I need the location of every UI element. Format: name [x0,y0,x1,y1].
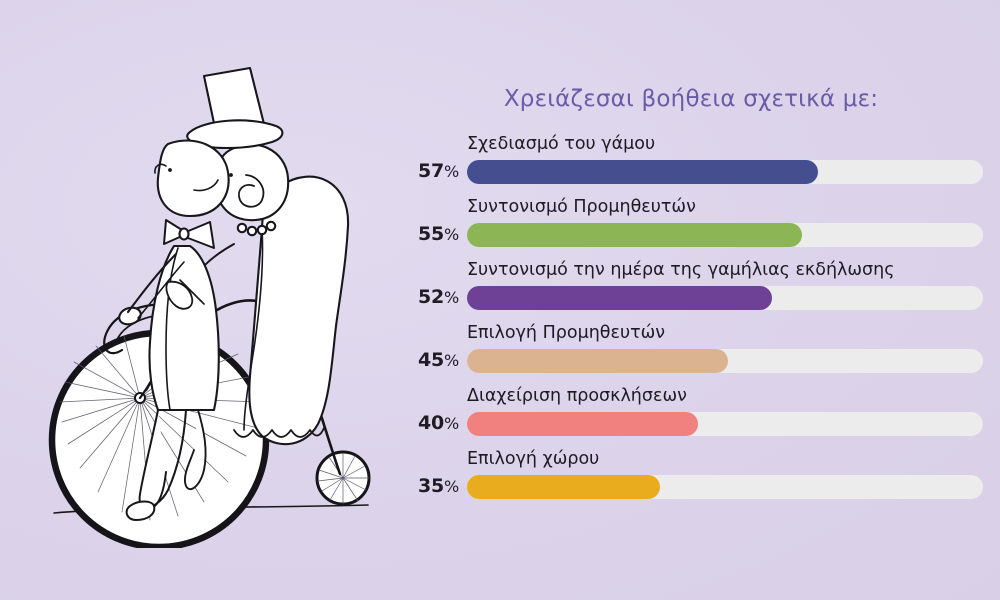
bar-label: Επιλογή χώρου [467,449,599,469]
bar-row: Επιλογή χώρου 35% [396,449,992,512]
percent-sign: % [444,477,459,496]
bar-track [467,349,983,373]
percent-sign: % [444,162,459,181]
bar-fill [467,349,728,373]
infographic-canvas: Χρειάζεσαι βοήθεια σχετικά με: Σχεδιασμό… [0,0,1000,600]
bar-track [467,223,983,247]
bar-value-number: 57 [418,160,444,182]
wedding-couple-bicycle-illustration [18,58,408,548]
bow-tie [164,220,214,248]
groom-head [158,140,229,216]
bar-track [467,412,983,436]
percent-sign: % [444,288,459,307]
bar-value: 52% [396,286,459,308]
bar-value: 45% [396,349,459,371]
bar-fill [467,286,772,310]
groom-top-hat [187,68,282,148]
bar-value: 55% [396,223,459,245]
bar-label: Συντονισμό την ημέρα της γαμήλιας εκδήλω… [467,260,895,280]
bar-row: Συντονισμό την ημέρα της γαμήλιας εκδήλω… [396,260,992,323]
bar-label: Συντονισμό Προμηθευτών [467,197,696,217]
bar-fill [467,412,698,436]
percent-sign: % [444,414,459,433]
bar-value: 35% [396,475,459,497]
bar-value-number: 45 [418,349,444,371]
bar-row: Επιλογή Προμηθευτών 45% [396,323,992,386]
bar-track [467,286,983,310]
bar-track [467,475,983,499]
percent-sign: % [444,351,459,370]
groom-shoe [127,502,155,521]
groom-eye [168,168,172,172]
bar-fill [467,475,660,499]
bar-value-number: 35 [418,475,444,497]
chart-panel: Χρειάζεσαι βοήθεια σχετικά με: Σχεδιασμό… [396,72,992,532]
chart-title: Χρειάζεσαι βοήθεια σχετικά με: [396,86,986,112]
bar-row: Συντονισμό Προμηθευτών 55% [396,197,992,260]
bar-fill [467,223,802,247]
bar-value: 57% [396,160,459,182]
bar-value-number: 52 [418,286,444,308]
bar-row: Διαχείριση προσκλήσεων 40% [396,386,992,449]
bar-value-number: 40 [418,412,444,434]
bar-list: Σχεδιασμό του γάμου 57% Συντονισμό Προμη… [396,134,992,512]
bar-track [467,160,983,184]
bar-label: Επιλογή Προμηθευτών [467,323,665,343]
small-wheel [317,452,369,504]
bar-value-number: 55 [418,223,444,245]
percent-sign: % [444,225,459,244]
bar-label: Σχεδιασμό του γάμου [467,134,655,154]
bar-fill [467,160,818,184]
bar-label: Διαχείριση προσκλήσεων [467,386,687,406]
bride-eye [229,173,233,177]
bar-row: Σχεδιασμό του γάμου 57% [396,134,992,197]
bar-value: 40% [396,412,459,434]
